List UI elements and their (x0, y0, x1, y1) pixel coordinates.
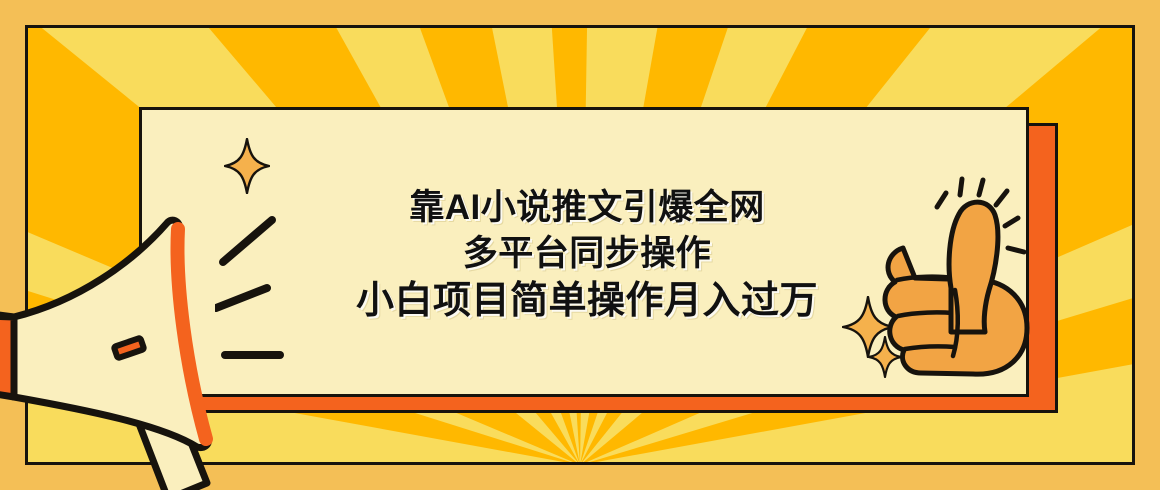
headline-line-1: 靠AI小说推文引爆全网 (409, 188, 765, 227)
headline-line-2: 多平台同步操作 (463, 234, 712, 273)
thumbs-up-icon (855, 160, 1055, 390)
headline-line-3: 小白项目简单操作月入过万 (356, 280, 818, 323)
sparkle-icon (224, 138, 270, 194)
poster-canvas: 靠AI小说推文引爆全网 多平台同步操作 小白项目简单操作月入过万 (0, 0, 1160, 490)
sound-wave-lines (215, 215, 345, 365)
